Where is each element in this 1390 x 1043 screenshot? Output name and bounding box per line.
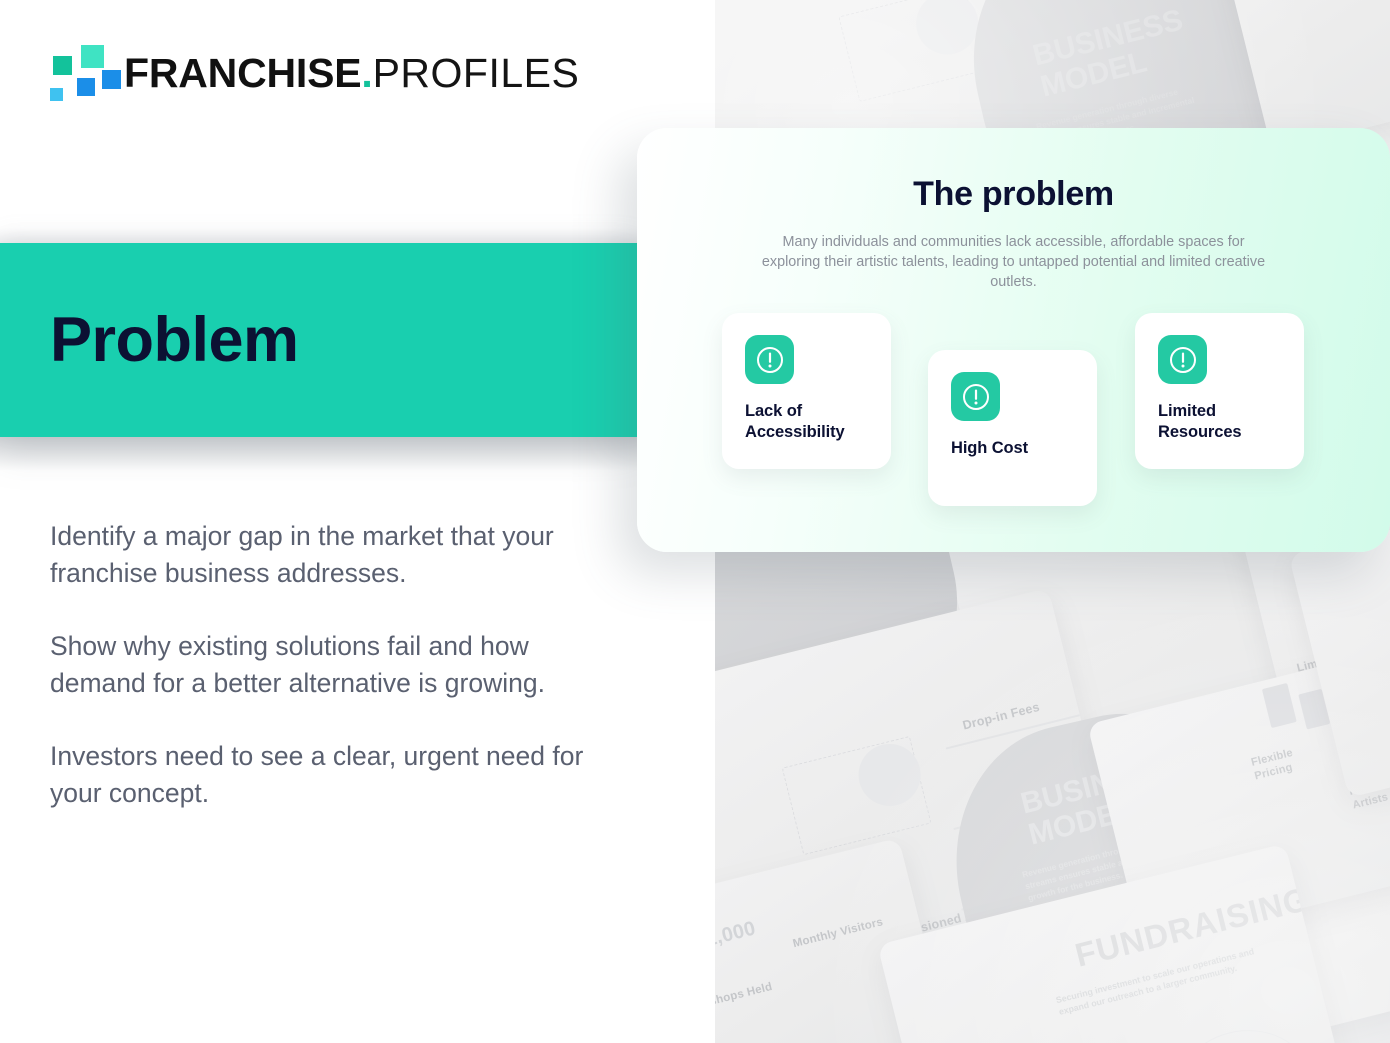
- slide-title-band: Problem: [0, 243, 637, 437]
- feature-card-high-cost[interactable]: High Cost: [928, 350, 1097, 506]
- exclamation-circle-icon: [745, 335, 794, 384]
- page-title: Problem: [50, 309, 299, 372]
- exclamation-circle-icon: [1158, 335, 1207, 384]
- problem-preview-card[interactable]: The problem Many individuals and communi…: [637, 128, 1390, 552]
- squares-logo-icon: [48, 44, 104, 102]
- body-paragraph-2: Show why existing solutions fail and how…: [50, 628, 620, 702]
- slide-canvas: Drop-in Fees Session Workshops Commissio…: [0, 0, 1390, 1043]
- feature-card-lack-of-accessibility[interactable]: Lack of Accessibility: [722, 313, 891, 469]
- band-shadow-top: [0, 228, 637, 244]
- brand-name-bold: FRANCHISE: [124, 50, 361, 96]
- feature-card-label: High Cost: [951, 438, 1097, 459]
- body-paragraph-1: Identify a major gap in the market that …: [50, 518, 620, 592]
- problem-card-heading: The problem: [637, 175, 1390, 214]
- feature-card-limited-resources[interactable]: Limited Resources: [1135, 313, 1304, 469]
- exclamation-circle-icon: [951, 372, 1000, 421]
- band-shadow-bottom: [0, 437, 637, 471]
- brand-logo[interactable]: FRANCHISE.PROFILES: [48, 44, 579, 102]
- brand-name-dot: .: [361, 50, 372, 96]
- problem-card-description: Many individuals and communities lack ac…: [754, 232, 1274, 292]
- brand-name-thin: PROFILES: [373, 50, 580, 96]
- body-paragraph-3: Investors need to see a clear, urgent ne…: [50, 738, 620, 812]
- feature-card-label: Limited Resources: [1158, 401, 1304, 443]
- brand-wordmark: FRANCHISE.PROFILES: [124, 53, 579, 94]
- slide-body-copy: Identify a major gap in the market that …: [50, 518, 620, 812]
- feature-card-label: Lack of Accessibility: [745, 401, 891, 443]
